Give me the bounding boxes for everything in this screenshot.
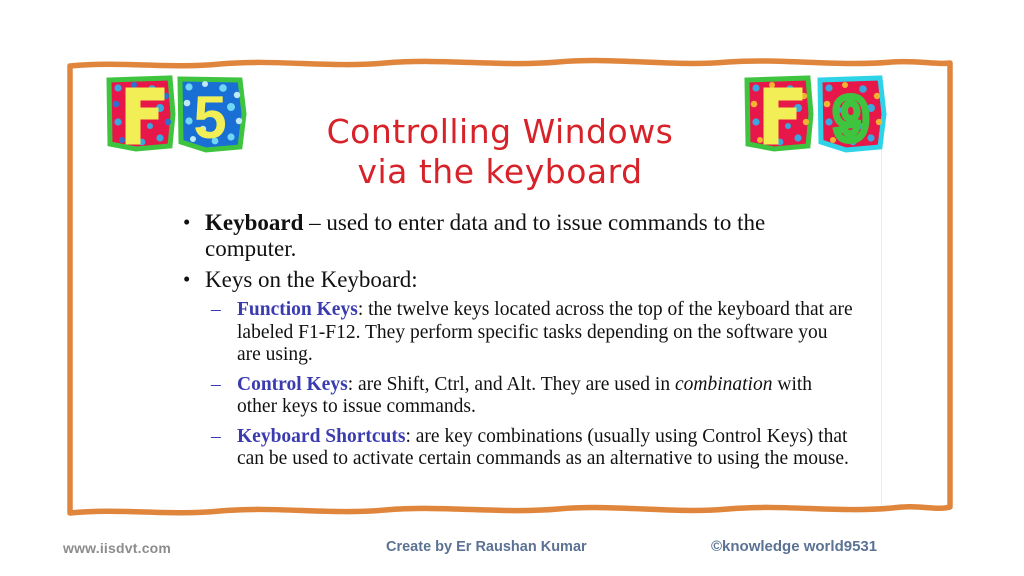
bullet-dot-icon: •	[183, 266, 190, 292]
main-bullet-list: • Keyboard – used to enter data and to i…	[175, 210, 855, 471]
bullet-keys-on-keyboard: • Keys on the Keyboard: – Function Keys:…	[175, 267, 855, 471]
sub-bullet-term: Keyboard Shortcuts	[237, 426, 405, 447]
slide-canvas: 5	[0, 0, 1024, 576]
sub-bullet-term: Control Keys	[237, 374, 348, 395]
title-line-2: via the keyboard	[220, 152, 780, 192]
f5-tile-f-icon	[100, 74, 178, 154]
dash-bullet-icon: –	[211, 426, 221, 449]
slide-title: Controlling Windows via the keyboard	[220, 112, 780, 192]
bullet-keys-text: Keys on the Keyboard:	[205, 267, 418, 292]
bullet-keyboard-lead: Keyboard	[205, 210, 303, 235]
vertical-guide-line	[881, 145, 882, 505]
sub-bullet-term: Function Keys	[237, 299, 358, 320]
sub-bullet-emphasis: combination	[675, 374, 773, 395]
sub-bullet-function-keys: – Function Keys: the twelve keys located…	[205, 299, 855, 367]
footer-website: www.iisdvt.com	[63, 540, 171, 556]
bullet-dot-icon: •	[183, 209, 190, 235]
sub-bullet-text-before: : are Shift, Ctrl, and Alt. They are use…	[348, 374, 675, 395]
bullet-keyboard: • Keyboard – used to enter data and to i…	[175, 210, 855, 262]
footer-author: Create by Er Raushan Kumar	[386, 539, 587, 555]
slide-body: • Keyboard – used to enter data and to i…	[175, 210, 855, 478]
sub-bullet-keyboard-shortcuts: – Keyboard Shortcuts: are key combinatio…	[205, 426, 855, 471]
dash-bullet-icon: –	[211, 299, 221, 322]
title-line-1: Controlling Windows	[220, 112, 780, 152]
sub-bullet-control-keys: – Control Keys: are Shift, Ctrl, and Alt…	[205, 374, 855, 419]
svg-text:9: 9	[834, 85, 868, 154]
dash-bullet-icon: –	[211, 374, 221, 397]
f9-tile-9-icon: 9	[810, 74, 890, 154]
sub-bullet-list: – Function Keys: the twelve keys located…	[205, 299, 855, 471]
footer-copyright: ©knowledge world9531	[711, 538, 877, 555]
